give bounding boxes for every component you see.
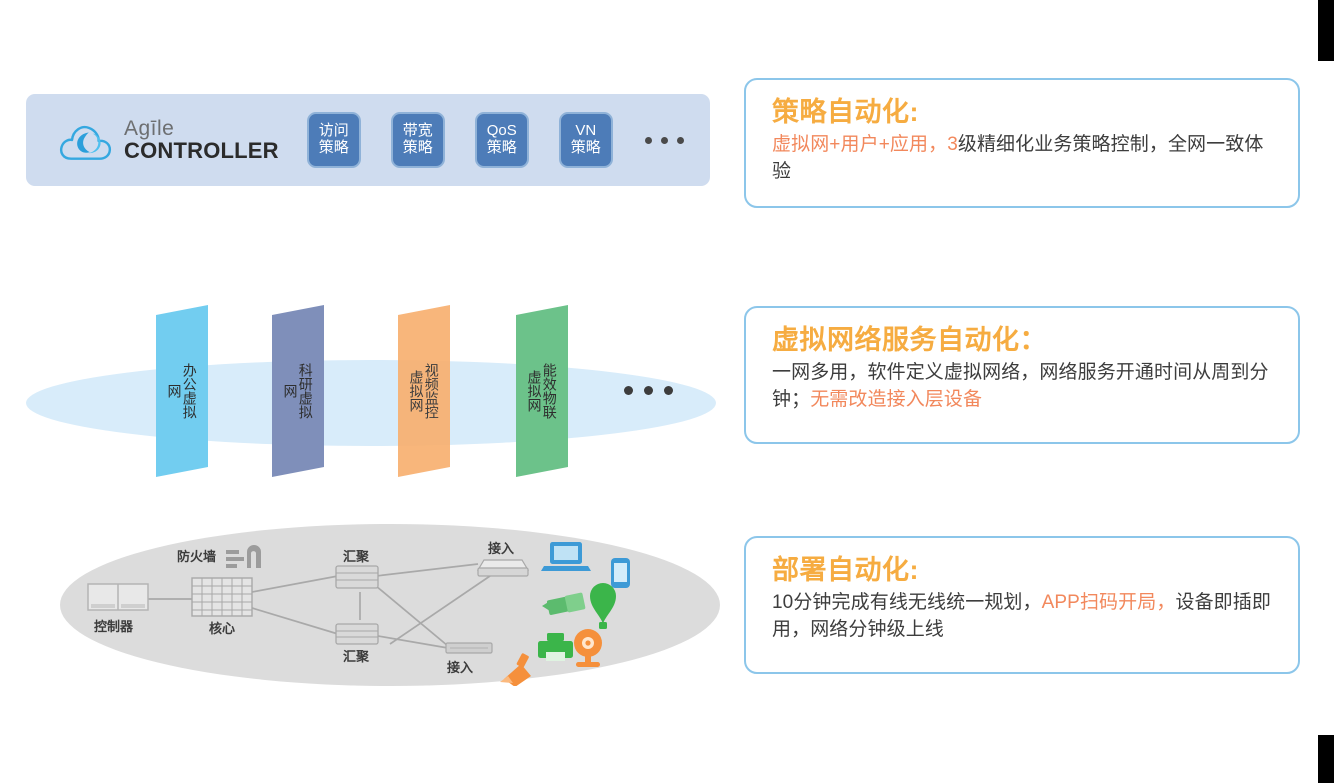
panel-body-highlight: 虚拟网+用户+应用，3 (772, 134, 958, 155)
smartphone-icon (611, 558, 630, 588)
topology-label-core: 核心 (209, 618, 235, 637)
agile-controller-bar: Agīle CONTROLLER 访问 策略 带宽 策略 QoS 策略 VN 策… (26, 94, 710, 186)
policy-label-line1: VN (575, 123, 596, 140)
laptop-icon (541, 542, 591, 571)
panel-body: 一网多用，软件定义虚拟网络，网络服务开通时间从周到分钟；无需改造接入层设备 (772, 360, 1278, 412)
panel-virtual-network-service-automation: 虚拟网络服务自动化： 一网多用，软件定义虚拟网络，网络服务开通时间从周到分钟；无… (744, 306, 1300, 444)
right-edge-bar-top (1318, 0, 1334, 61)
policy-label-line1: 带宽 (403, 123, 433, 140)
vn-plane-label-b: 虚拟网 (527, 370, 541, 412)
policy-label-line1: QoS (487, 123, 517, 140)
policy-label-line2: 策略 (487, 140, 517, 157)
server-rack-icon (88, 584, 148, 610)
panel-body-highlight: APP扫码开局， (1042, 592, 1176, 613)
panel-body: 10分钟完成有线无线统一规划，APP扫码开局，设备即插即用，网络分钟级上线 (772, 590, 1278, 642)
topology-label-access-top: 接入 (488, 538, 514, 557)
vn-plane-label: 网 办公虚拟 (156, 310, 208, 472)
topology-label-firewall: 防火墙 (177, 546, 216, 565)
vn-plane-label: 网 科研虚拟 (272, 310, 324, 472)
webcam-icon (574, 629, 602, 667)
vn-more-ellipsis-icon (624, 386, 673, 395)
policy-more-ellipsis-icon[interactable] (645, 137, 684, 144)
printer-icon (538, 633, 573, 661)
vn-plane-label: 虚拟网 视频监控 (398, 310, 450, 472)
vn-plane-label: 虚拟网 能效物联 (516, 310, 568, 472)
policy-button-vn[interactable]: VN 策略 (559, 112, 613, 168)
core-switch-icon (192, 578, 252, 616)
panel-body: 虚拟网+用户+应用，3级精细化业务策略控制，全网一致体验 (772, 132, 1278, 184)
topology-label-access-bottom: 接入 (447, 657, 473, 676)
policy-button-row: 访问 策略 带宽 策略 QoS 策略 VN 策略 (307, 112, 684, 168)
physical-network-ellipse (26, 360, 716, 446)
light-bulb-icon (590, 583, 616, 629)
topology-label-agg-top: 汇聚 (343, 546, 369, 565)
panel-heading: 部署自动化: (772, 554, 1278, 586)
vn-plane-label-b: 虚拟网 (409, 370, 423, 412)
topology-label-agg-bottom: 汇聚 (343, 646, 369, 665)
vn-plane-label-a: 科研虚拟 (299, 363, 313, 419)
logo-brand-bottom: CONTROLLER (124, 140, 279, 162)
virtual-network-diagram: 网 办公虚拟 网 科研虚拟 虚拟网 视频监控 虚拟网 能效物联 (26, 300, 716, 500)
policy-label-line2: 策略 (403, 140, 433, 157)
vn-plane-label-a: 能效物联 (543, 363, 557, 419)
switch-icon (336, 566, 378, 588)
vn-plane-video-surveillance: 虚拟网 视频监控 (398, 305, 450, 477)
vn-plane-label-a: 办公虚拟 (183, 363, 197, 419)
panel-body-text: 10分钟完成有线无线统一规划， (772, 592, 1042, 613)
vn-plane-label-b: 网 (283, 384, 297, 398)
panel-body-highlight: 无需改造接入层设备 (810, 389, 982, 410)
vn-plane-label-a: 视频监控 (425, 363, 439, 419)
panel-deployment-automation: 部署自动化: 10分钟完成有线无线统一规划，APP扫码开局，设备即插即用，网络分… (744, 536, 1300, 674)
policy-button-access[interactable]: 访问 策略 (307, 112, 361, 168)
sensor-icon (542, 592, 586, 615)
cctv-camera-icon (500, 653, 531, 686)
policy-label-line1: 访问 (319, 123, 349, 140)
vn-plane-label-b: 网 (167, 384, 181, 398)
right-edge-bar-bottom (1318, 735, 1334, 783)
cloud-swirl-icon (58, 117, 114, 163)
policy-label-line2: 策略 (571, 140, 601, 157)
switch-icon (336, 624, 378, 644)
firewall-icon (226, 545, 261, 568)
vn-plane-energy-iot: 虚拟网 能效物联 (516, 305, 568, 477)
panel-policy-automation: 策略自动化: 虚拟网+用户+应用，3级精细化业务策略控制，全网一致体验 (744, 78, 1300, 208)
access-switch-icon (446, 643, 492, 653)
network-topology-diagram: 控制器 防火墙 核心 汇聚 汇聚 接入 接入 (60, 524, 720, 686)
topology-label-controller: 控制器 (94, 616, 133, 635)
topology-links-and-icons (60, 524, 720, 686)
access-switch-icon (478, 560, 528, 576)
panel-heading: 策略自动化: (772, 96, 1278, 128)
vn-plane-office: 网 办公虚拟 (156, 305, 208, 477)
vn-plane-research: 网 科研虚拟 (272, 305, 324, 477)
slide-canvas: Agīle CONTROLLER 访问 策略 带宽 策略 QoS 策略 VN 策… (0, 0, 1334, 783)
logo-wordmark: Agīle CONTROLLER (124, 118, 279, 162)
panel-heading: 虚拟网络服务自动化： (772, 324, 1278, 356)
logo-brand-top: Agīle (124, 118, 279, 139)
policy-button-bandwidth[interactable]: 带宽 策略 (391, 112, 445, 168)
policy-button-qos[interactable]: QoS 策略 (475, 112, 529, 168)
agile-controller-logo: Agīle CONTROLLER (58, 117, 279, 163)
policy-label-line2: 策略 (319, 140, 349, 157)
